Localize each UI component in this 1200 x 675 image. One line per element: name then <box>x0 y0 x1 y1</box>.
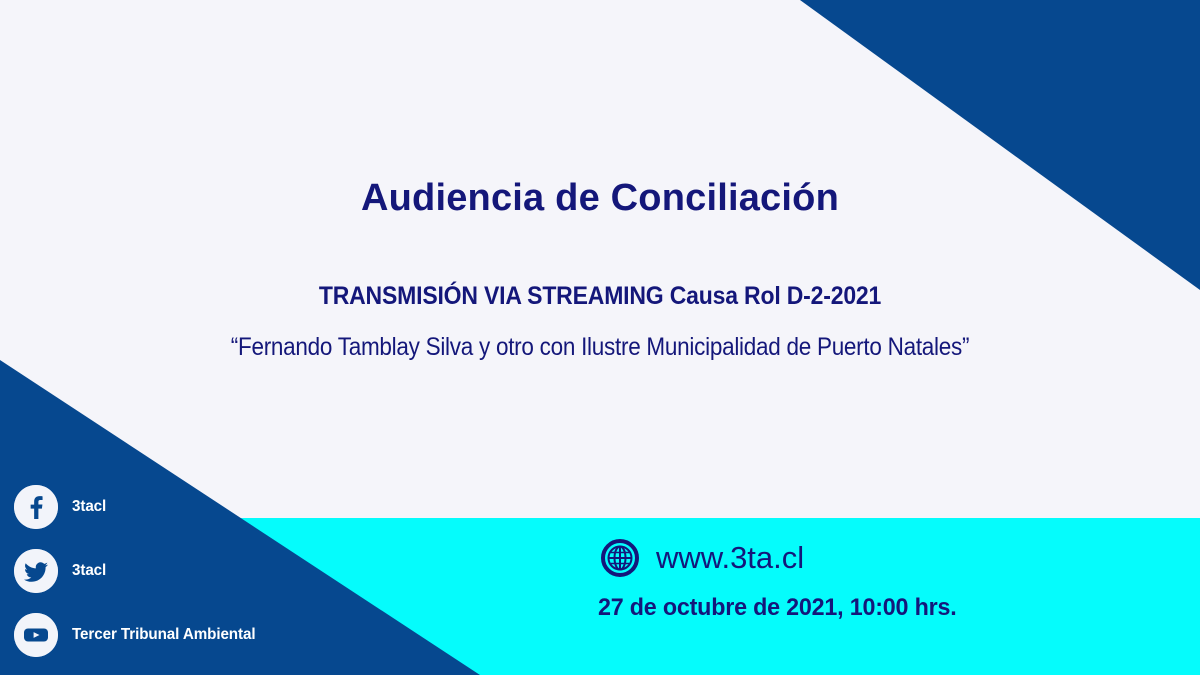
page-title: Audiencia de Conciliación <box>0 178 1200 220</box>
youtube-icon <box>14 613 58 657</box>
social-link-youtube[interactable]: Tercer Tribunal Ambiental <box>14 613 265 657</box>
announcement-slide: Audiencia de Conciliación TRANSMISIÓN VI… <box>0 0 1200 675</box>
event-datetime: 27 de octubre de 2021, 10:00 hrs. <box>598 594 957 622</box>
social-label: 3tacl <box>72 562 106 580</box>
social-label: Tercer Tribunal Ambiental <box>72 626 255 644</box>
twitter-icon <box>14 549 58 593</box>
social-label: 3tacl <box>72 498 106 516</box>
globe-icon <box>598 536 642 580</box>
website-url: www.3ta.cl <box>656 540 804 576</box>
footer-contact-block: www.3ta.cl 27 de octubre de 2021, 10:00 … <box>598 536 968 622</box>
case-name: “Fernando Tamblay Silva y otro con Ilust… <box>60 333 1140 362</box>
social-link-facebook[interactable]: 3tacl <box>14 485 265 529</box>
website-row[interactable]: www.3ta.cl <box>598 536 968 580</box>
facebook-icon <box>14 485 58 529</box>
headline-block: Audiencia de Conciliación TRANSMISIÓN VI… <box>0 178 1200 362</box>
social-links-list: 3tacl 3tacl Tercer Tribunal Ambiental <box>14 485 265 657</box>
streaming-subtitle: TRANSMISIÓN VIA STREAMING Causa Rol D-2-… <box>48 282 1152 311</box>
social-link-twitter[interactable]: 3tacl <box>14 549 265 593</box>
